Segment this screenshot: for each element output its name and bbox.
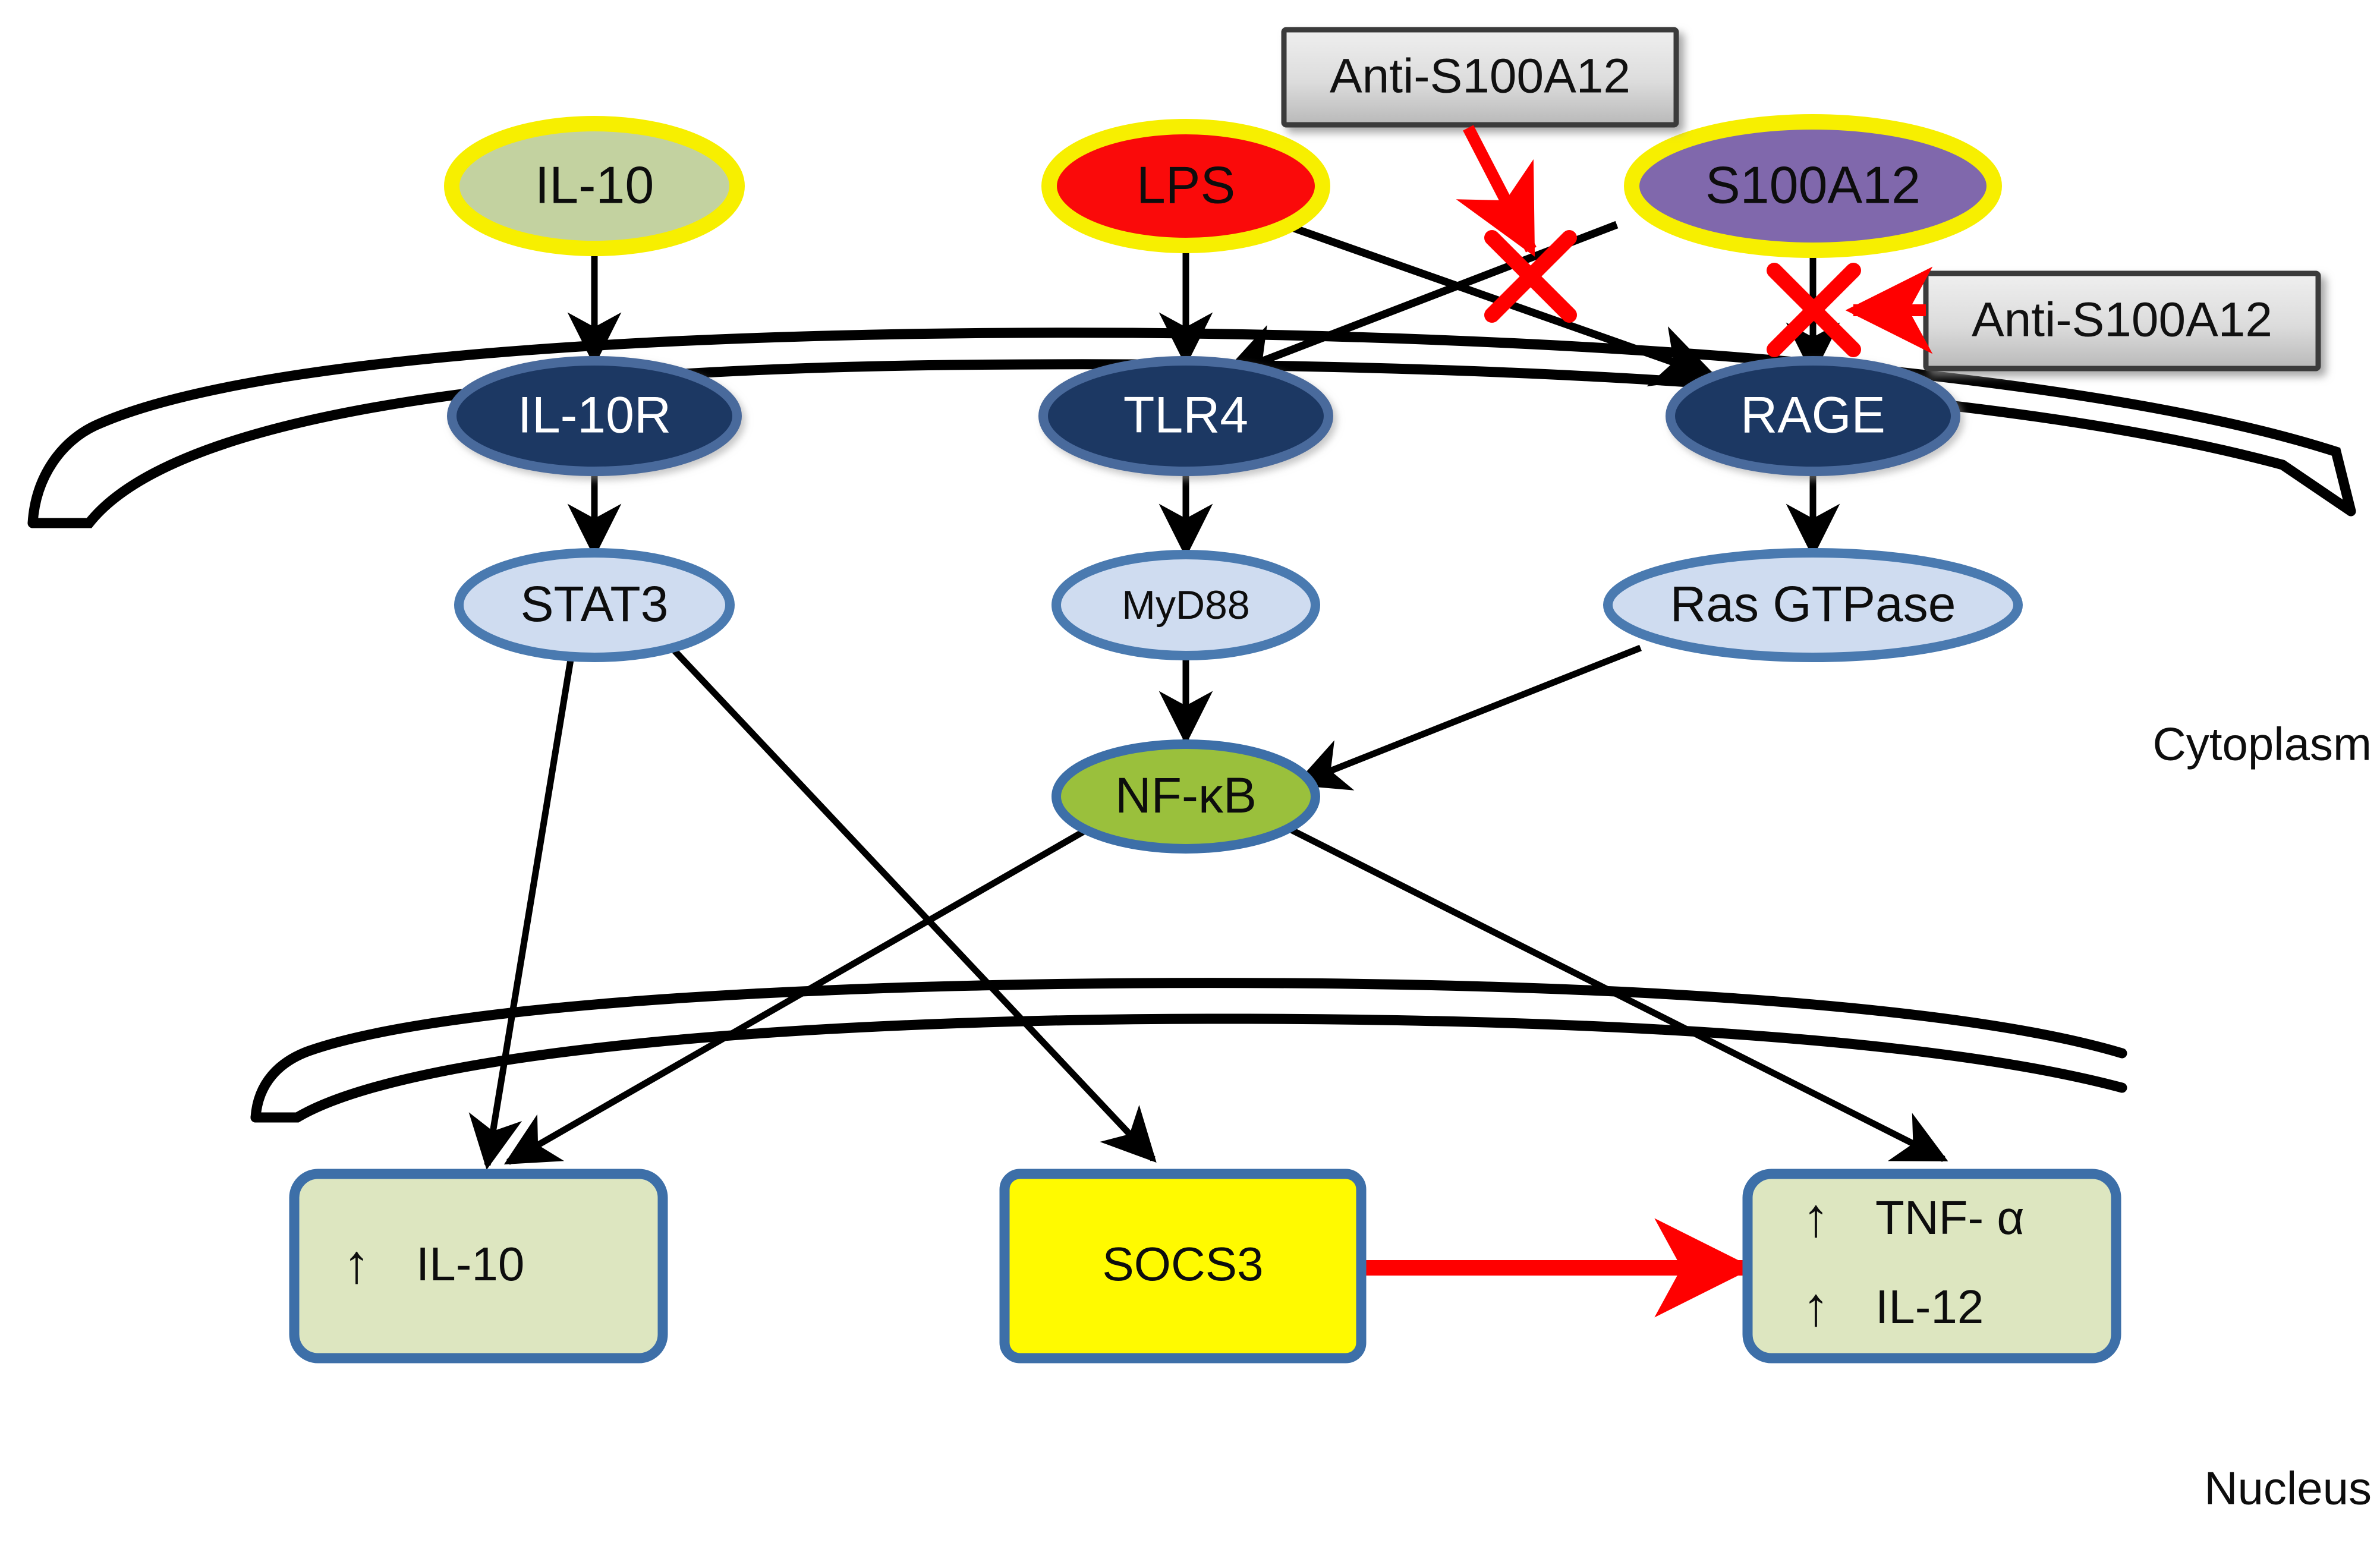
node-il10r[interactable]: IL-10R [452,361,737,471]
callout-top-pointer [1468,128,1531,250]
node-ras-gtpase[interactable]: Ras GTPase [1608,553,2018,657]
output-box-socs3-label: SOCS3 [1102,1238,1263,1290]
node-nfkb[interactable]: NF-κB [1056,744,1315,849]
node-il10-label: IL-10 [535,155,654,214]
nuclear-membrane [256,983,2122,1117]
output-box-socs3[interactable]: SOCS3 [1005,1174,1361,1358]
node-lps[interactable]: LPS [1049,127,1323,245]
edge-ras-to-nfkb [1299,648,1641,783]
callout-anti-s100a12-top-label: Anti-S100A12 [1330,49,1630,103]
node-stat3-label: STAT3 [521,576,669,632]
output-box-tnf-il12[interactable]: ↑ TNF- α ↑ IL-12 [1748,1174,2116,1358]
edge-nfkb-to-tnf-il12 [1290,829,1944,1159]
node-rage[interactable]: RAGE [1670,361,1956,471]
node-rage-label: RAGE [1740,387,1885,444]
node-il10[interactable]: IL-10 [452,124,737,248]
edge-stat3-to-il10-output [487,660,571,1165]
callout-anti-s100a12-right-label: Anti-S100A12 [1972,293,2272,347]
callout-anti-s100a12-right[interactable]: Anti-S100A12 [1926,273,2318,369]
node-tlr4-label: TLR4 [1123,387,1248,444]
output-box-il12-arrow: ↑ [1802,1276,1830,1337]
nucleus-label: Nucleus [2204,1462,2372,1514]
node-myd88[interactable]: MyD88 [1056,555,1315,656]
edge-layer-lower [487,651,1944,1165]
output-box-il10-arrow: ↑ [343,1233,370,1294]
node-lps-label: LPS [1137,155,1235,214]
node-ras-gtpase-label: Ras GTPase [1670,576,1956,632]
node-tlr4[interactable]: TLR4 [1043,361,1328,471]
node-myd88-label: MyD88 [1122,582,1249,628]
output-box-tnf-label: TNF- α [1875,1191,2025,1244]
node-s100a12[interactable]: S100A12 [1632,122,1994,250]
diagram-canvas: IL-10 LPS S100A12 IL-10R TLR4 RAGE STAT3… [0,0,2380,1546]
node-il10r-label: IL-10R [518,387,671,444]
cytoplasm-label: Cytoplasm [2153,718,2372,770]
output-box-tnf-arrow: ↑ [1802,1187,1830,1248]
edge-stat3-to-socs3 [675,651,1153,1159]
node-s100a12-label: S100A12 [1705,155,1921,214]
callout-anti-s100a12-top[interactable]: Anti-S100A12 [1284,30,1676,125]
node-stat3[interactable]: STAT3 [459,553,730,657]
output-box-il10-label: IL-10 [416,1238,524,1290]
node-nfkb-label: NF-κB [1115,767,1257,823]
output-box-il10[interactable]: ↑ IL-10 [294,1174,663,1358]
output-box-il12-label: IL-12 [1875,1280,1984,1333]
